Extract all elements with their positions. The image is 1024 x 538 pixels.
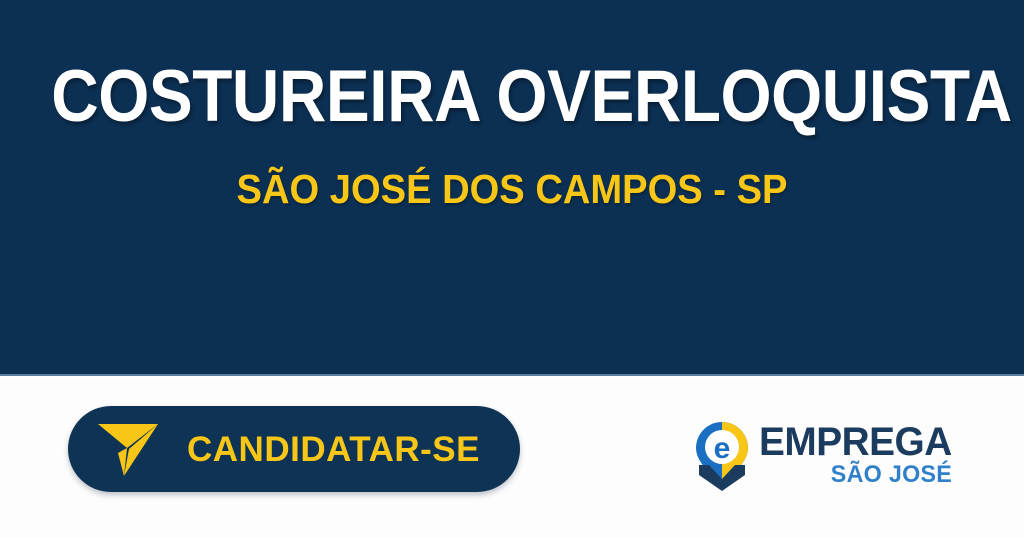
action-footer: Candidatar-se e Emprega São José (0, 378, 1024, 538)
apply-button-label: Candidatar-se (187, 432, 480, 467)
brand-subtitle: São José (830, 463, 951, 487)
page-title: COSTUREIRA OVERLOQUISTA (51, 60, 973, 133)
brand-wordmark: Emprega São José (753, 423, 952, 487)
pin-letter-e: e (714, 432, 731, 465)
apply-button[interactable]: Candidatar-se (68, 406, 520, 492)
send-icon (96, 418, 160, 480)
map-pin-icon: e (695, 421, 749, 491)
brand-logo[interactable]: e Emprega São José (695, 420, 900, 496)
hero-banner: COSTUREIRA OVERLOQUISTA São José dos Cam… (0, 0, 1024, 376)
job-location-subtitle: São José dos Campos - SP (36, 169, 988, 210)
job-posting-card: COSTUREIRA OVERLOQUISTA São José dos Cam… (0, 0, 1024, 538)
brand-name: Emprega (759, 423, 952, 461)
